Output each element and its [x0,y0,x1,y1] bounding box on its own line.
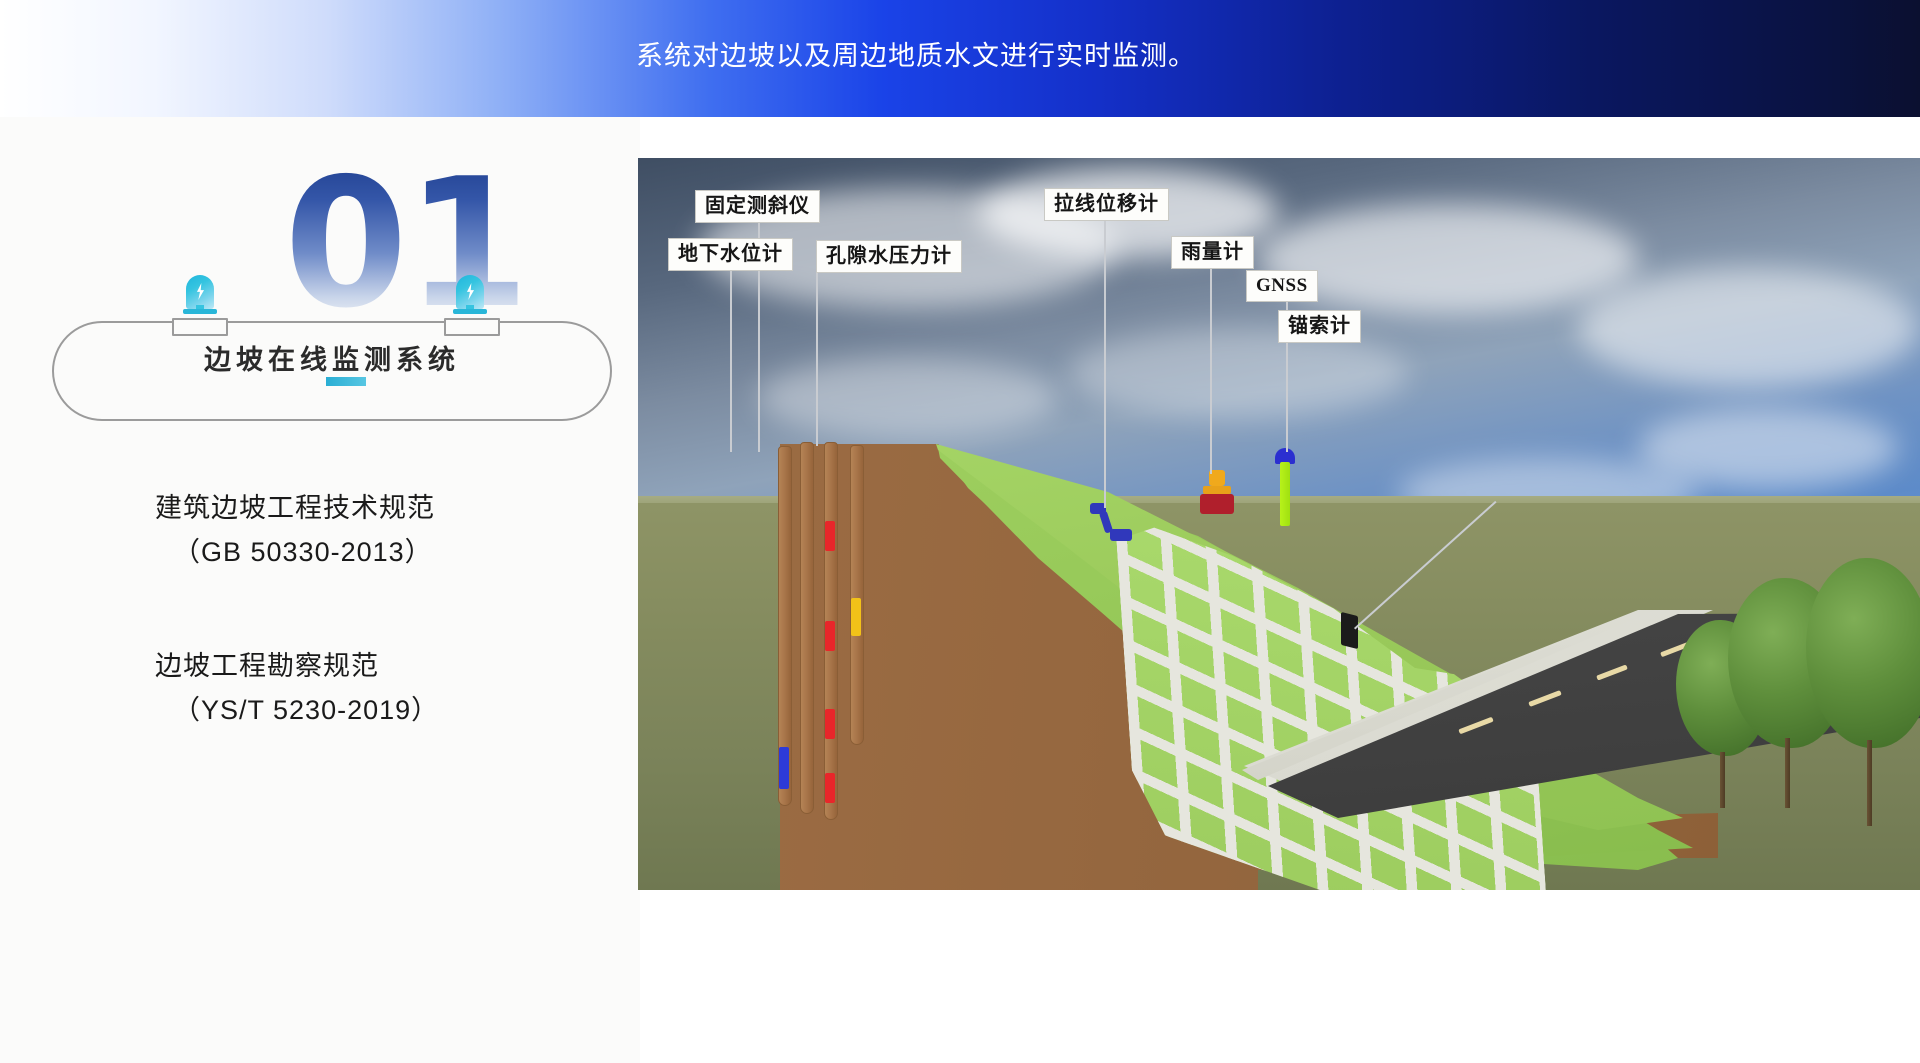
borehole-segment-red [825,773,835,803]
lamp-base [183,309,217,314]
section-number: 01 [284,155,528,333]
label-rain-gauge: 雨量计 [1171,236,1254,269]
label-wire-displacement: 拉线位移计 [1044,188,1169,221]
lamp-base [453,309,487,314]
tree-trunk [1720,752,1725,808]
borehole-segment-red [825,709,835,739]
rain-gauge-sensor [1200,470,1234,518]
borehole-casing [850,445,864,745]
gnss-antenna-sensor [1275,448,1295,526]
spec-item-2: 边坡工程勘察规范 （YS/T 5230-2019） [0,645,640,732]
leader-line [730,268,732,452]
badge-title: 边坡在线监测系统 [52,338,612,377]
label-pore-water-pressure: 孔隙水压力计 [816,240,962,273]
badge-underline [326,377,366,386]
borehole-casing [778,446,792,806]
lightning-lamp-icon-right [453,275,487,319]
tree-crown [1806,558,1920,748]
tree-trunk [1785,738,1790,808]
borehole-casing [800,442,814,814]
tree [1806,558,1920,826]
label-groundwater-level: 地下水位计 [668,238,793,271]
spec-code: （GB 50330-2013） [155,531,640,575]
borehole-segment-yellow [851,598,861,636]
leader-line [1210,266,1212,474]
label-fixed-inclinometer: 固定测斜仪 [695,190,820,223]
tree-trunk [1867,740,1872,826]
spec-item-1: 建筑边坡工程技术规范 （GB 50330-2013） [0,487,640,574]
label-gnss: GNSS [1246,270,1318,302]
lightning-lamp-icon-left [183,275,217,319]
leader-line [816,270,818,446]
connector-left [172,318,228,336]
left-panel: 01 边坡在线监测系统 建筑边坡工程技术规范 （GB 50330-2013） 边… [0,117,640,1063]
spec-name: 建筑边坡工程技术规范 [155,487,640,531]
leader-line [1104,218,1106,508]
spec-code: （YS/T 5230-2019） [155,689,640,733]
section-badge: 01 边坡在线监测系统 [52,155,612,415]
label-anchor-cable-gauge: 锚索计 [1278,310,1361,343]
borehole-casing [824,442,838,820]
slope-monitoring-illustration: 固定测斜仪 地下水位计 孔隙水压力计 拉线位移计 雨量计 GNSS 锚索计 [638,158,1920,890]
banner-title: 系统对边坡以及周边地质水文进行实时监测。 [636,34,1196,73]
connector-right [444,318,500,336]
header-banner: 系统对边坡以及周边地质水文进行实时监测。 [0,0,1920,117]
borehole-segment-red [825,521,835,551]
borehole-segment-blue [779,747,789,789]
anchor-cable-sensor [1341,612,1358,649]
borehole-segment-red [825,621,835,651]
wire-displacement-sensor [1090,503,1134,541]
spec-name: 边坡工程勘察规范 [155,645,640,689]
